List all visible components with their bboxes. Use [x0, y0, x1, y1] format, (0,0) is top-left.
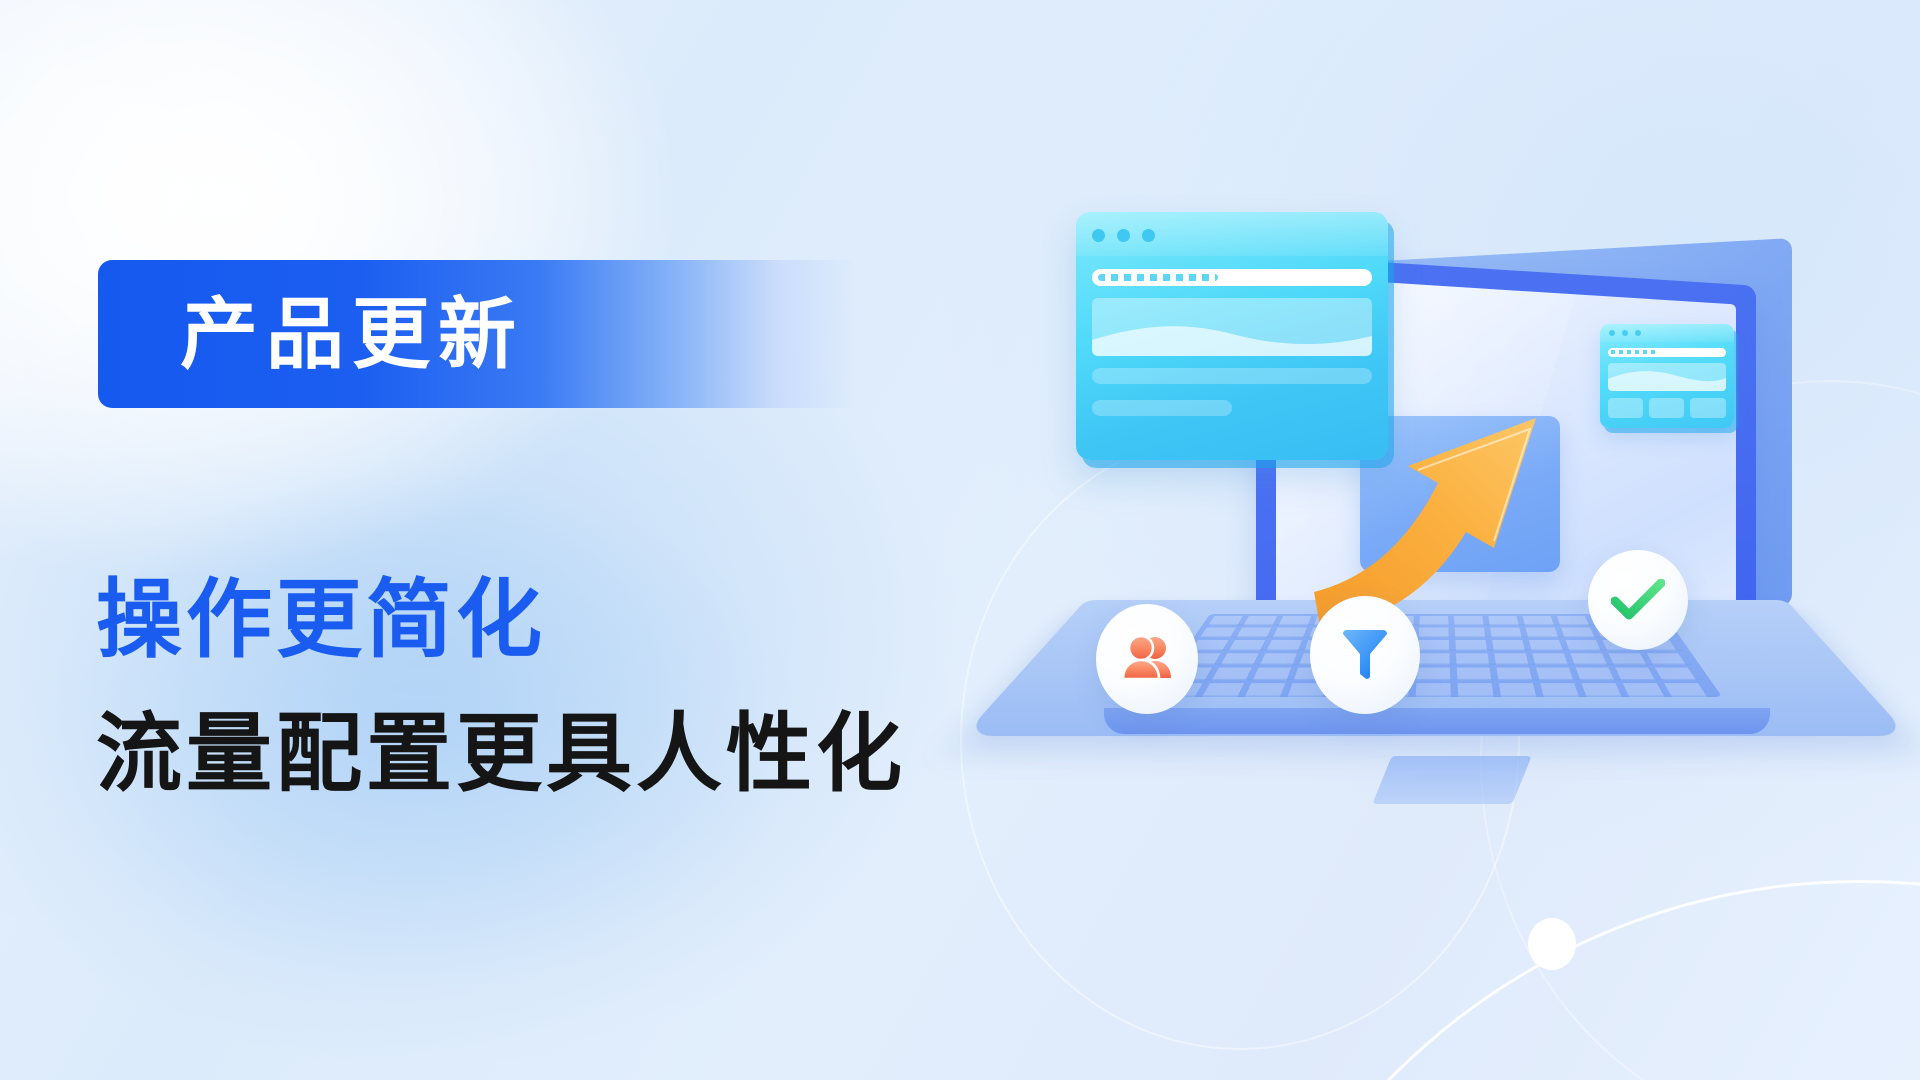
window-chart-wave — [1092, 314, 1372, 356]
window-dot-3 — [1635, 330, 1641, 336]
window-tile-3 — [1690, 398, 1726, 418]
window-tile-2 — [1649, 398, 1684, 418]
window-dot-1 — [1609, 330, 1615, 336]
filter-icon-badge — [1310, 596, 1420, 714]
window-content-bar-2 — [1092, 400, 1232, 416]
window-dot-1 — [1092, 229, 1105, 242]
window-address-placeholder — [1611, 350, 1659, 354]
window-address-placeholder — [1098, 274, 1218, 281]
laptop-trackpad — [1372, 756, 1531, 804]
browser-window-small — [1600, 324, 1734, 428]
filter-icon — [1339, 628, 1391, 682]
headline-line-1: 操作更简化 — [96, 570, 546, 671]
product-update-badge: 产品更新 — [98, 260, 858, 408]
decorative-arc-dot — [1528, 918, 1576, 970]
window-chart-area — [1092, 298, 1372, 356]
window-titlebar — [1600, 324, 1734, 342]
hero-illustration — [1060, 200, 1850, 880]
window-chart-wave — [1608, 363, 1726, 391]
window-dot-2 — [1117, 229, 1130, 242]
users-icon — [1119, 634, 1175, 684]
window-chart-area — [1608, 363, 1726, 391]
badge-label: 产品更新 — [180, 295, 524, 373]
laptop-base-edge — [1104, 708, 1770, 734]
decorative-arc-large — [1200, 880, 1920, 1080]
check-icon-badge — [1588, 550, 1688, 650]
users-icon-badge — [1096, 604, 1198, 714]
window-dot-3 — [1142, 229, 1155, 242]
check-icon — [1611, 579, 1665, 621]
window-dot-2 — [1622, 330, 1628, 336]
headline-line-2: 流量配置更具人性化 — [96, 704, 906, 805]
product-update-banner: 产品更新 操作更简化 流量配置更具人性化 — [0, 0, 1920, 1080]
window-tile-1 — [1608, 398, 1643, 418]
